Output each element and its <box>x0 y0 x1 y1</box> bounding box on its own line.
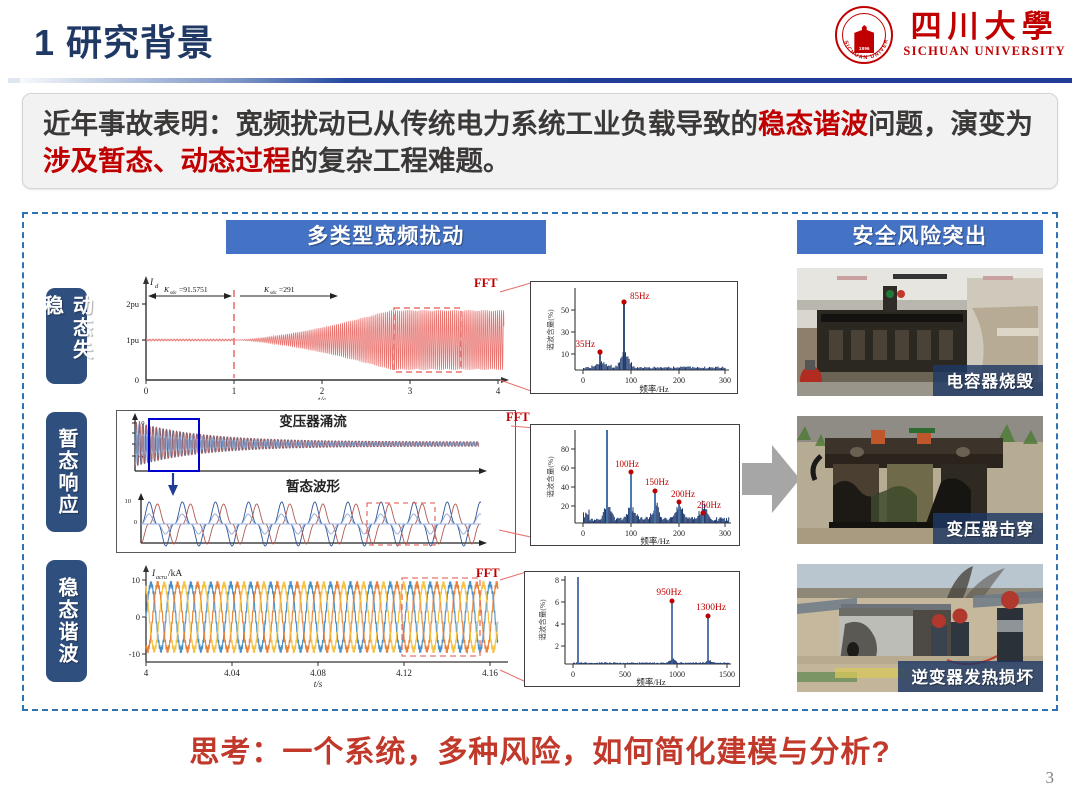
svg-text:1: 1 <box>232 386 237 396</box>
svg-text:-10: -10 <box>129 649 140 659</box>
row-badge-dynamic-instability: 动态失稳 <box>46 288 87 384</box>
seal-arc-text: SICHUAN UNIVERSITY <box>837 8 895 66</box>
statement-banner: 近年事故表明：宽频扰动已从传统电力系统工业负载导致的稳态谐波问题，演变为涉及暂态… <box>22 93 1058 189</box>
svg-text:=291: =291 <box>279 285 295 294</box>
svg-text:300: 300 <box>719 529 731 538</box>
svg-text:4: 4 <box>144 668 149 678</box>
svg-text:acru: acru <box>156 575 167 581</box>
svg-text:500: 500 <box>619 670 631 679</box>
chart-row1-fft: 10 30 50 0 100 200 300 频率/Hz 谐波含量(%) 35H… <box>530 281 738 394</box>
logo-chinese-name: 四川大學 <box>911 11 1059 44</box>
svg-text:4.08: 4.08 <box>310 668 326 678</box>
svg-text:1300Hz: 1300Hz <box>696 603 726 613</box>
svg-text:250Hz: 250Hz <box>697 500 721 510</box>
sichuan-university-seal-icon: 1896 SICHUAN UNIVERSITY <box>835 6 893 64</box>
chart-row1-timeseries: 2pu 1pu 0 0 1 2 3 4 t/s I d K sdc =91.57… <box>112 272 512 400</box>
svg-text:200: 200 <box>673 529 685 538</box>
header-rule <box>8 78 1072 83</box>
svg-text:4.16: 4.16 <box>482 668 498 678</box>
svg-text:=91.5751: =91.5751 <box>179 285 208 294</box>
svg-text:6: 6 <box>555 598 559 607</box>
svg-text:0: 0 <box>135 375 139 385</box>
svg-text:0: 0 <box>571 670 575 679</box>
svg-text:1pu: 1pu <box>126 335 140 345</box>
photo-caption-1: 电容器烧毁 <box>933 365 1044 396</box>
section-header-disturbances: 多类型宽频扰动 <box>226 220 546 254</box>
svg-text:35Hz: 35Hz <box>576 339 596 349</box>
svg-text:sdc: sdc <box>270 291 277 296</box>
svg-text:t/s: t/s <box>314 679 323 689</box>
photo-capacitor-burned: 电容器烧毁 <box>797 268 1043 396</box>
svg-text:30: 30 <box>561 328 569 337</box>
university-logo: 1896 SICHUAN UNIVERSITY 四川大學 SICHUAN UNI… <box>835 6 1066 64</box>
photo-caption-3: 逆变器发热损坏 <box>898 661 1044 692</box>
svg-text:0: 0 <box>144 386 149 396</box>
svg-text:频率/Hz: 频率/Hz <box>639 384 669 393</box>
svg-text:1000: 1000 <box>669 670 685 679</box>
svg-text:100: 100 <box>625 376 637 385</box>
svg-text:2pu: 2pu <box>126 299 140 309</box>
banner-text-3: 的复杂工程难题。 <box>291 145 511 176</box>
svg-text:/kA: /kA <box>168 569 182 579</box>
svg-text:1500: 1500 <box>719 670 735 679</box>
slide-root: 1 研究背景 1896 SICHUAN UNIVERSITY 四川大學 SICH… <box>0 0 1080 807</box>
page-number: 3 <box>1046 768 1055 788</box>
row-badge-transient-response: 暂态响应 <box>46 412 87 532</box>
svg-text:0: 0 <box>581 376 585 385</box>
svg-text:80: 80 <box>561 445 569 454</box>
banner-paragraph: 近年事故表明：宽频扰动已从传统电力系统工业负载导致的稳态谐波问题，演变为涉及暂态… <box>43 105 1039 179</box>
photo-inverter-overheat-damage: 逆变器发热损坏 <box>797 564 1043 692</box>
svg-text:0: 0 <box>134 519 137 526</box>
chart-row2-fft: 20 40 60 80 0 100 200 300 频率/Hz 谐波含量(%) … <box>530 424 740 546</box>
svg-text:200: 200 <box>673 376 685 385</box>
row2-top-title: 变压器涌流 <box>279 413 347 429</box>
svg-text:10: 10 <box>132 575 141 585</box>
svg-text:0: 0 <box>581 529 585 538</box>
svg-text:950Hz: 950Hz <box>656 588 681 598</box>
closing-question: 思考：一个系统，多种风险，如何简化建模与分析? <box>0 727 1080 771</box>
svg-text:sdc: sdc <box>170 291 177 296</box>
svg-text:d: d <box>155 283 159 290</box>
svg-text:K: K <box>263 285 270 294</box>
svg-text:谐波含量(%): 谐波含量(%) <box>545 309 555 351</box>
svg-text:100Hz: 100Hz <box>615 459 639 469</box>
svg-text:频率/Hz: 频率/Hz <box>640 536 670 545</box>
svg-text:K: K <box>163 285 170 294</box>
banner-highlight-2: 谐波 <box>813 108 868 139</box>
fft-label-row1: FFT <box>474 276 498 291</box>
svg-text:4.04: 4.04 <box>224 668 240 678</box>
chart-row2-timeseries: 10 5 0 -5 变压器涌流 暂态波形 10 0 <box>116 410 516 553</box>
row2-bottom-title: 暂态波形 <box>286 478 340 494</box>
svg-text:SICHUAN UNIVERSITY: SICHUAN UNIVERSITY <box>837 8 890 61</box>
svg-text:8: 8 <box>555 576 559 585</box>
photo-caption-2: 变压器击穿 <box>933 513 1044 544</box>
chart-row3-fft: 2 4 6 8 0 500 1000 1500 频率/Hz 谐波含量(%) 95… <box>524 571 740 687</box>
svg-text:100: 100 <box>625 529 637 538</box>
svg-text:I: I <box>149 278 154 288</box>
svg-text:85Hz: 85Hz <box>630 291 650 301</box>
svg-text:20: 20 <box>561 502 569 511</box>
logo-text: 四川大學 SICHUAN UNIVERSITY <box>903 11 1066 60</box>
svg-text:0: 0 <box>136 612 140 622</box>
svg-text:频率/Hz: 频率/Hz <box>636 677 666 686</box>
svg-text:10: 10 <box>125 498 132 505</box>
chart-row3-timeseries: 10 0 -10 I acru /kA 4 4.04 4.08 4.12 4.1… <box>104 562 520 690</box>
page-title: 1 研究背景 <box>34 14 214 66</box>
svg-text:40: 40 <box>561 483 569 492</box>
svg-text:10: 10 <box>561 350 569 359</box>
svg-text:t/s: t/s <box>318 395 327 400</box>
svg-text:300: 300 <box>719 376 731 385</box>
svg-text:谐波含量(%): 谐波含量(%) <box>545 456 555 498</box>
banner-text-2: 问题，演变为 <box>868 108 1033 139</box>
logo-english-name: SICHUAN UNIVERSITY <box>903 44 1066 59</box>
svg-text:4: 4 <box>555 620 559 629</box>
svg-text:3: 3 <box>408 386 413 396</box>
row-badge-steady-harmonics: 稳态谐波 <box>46 560 87 682</box>
banner-text-1: 近年事故表明：宽频扰动已从传统电力系统工业负载导致的 <box>43 108 758 139</box>
svg-text:60: 60 <box>561 464 569 473</box>
svg-text:200Hz: 200Hz <box>671 489 695 499</box>
header-rule-dot <box>8 78 20 83</box>
svg-text:4.12: 4.12 <box>396 668 412 678</box>
svg-text:2: 2 <box>555 642 559 651</box>
svg-text:50: 50 <box>561 306 569 315</box>
svg-text:谐波含量(%): 谐波含量(%) <box>537 599 547 641</box>
banner-highlight-1: 稳态 <box>758 108 813 139</box>
photo-transformer-breakdown: 变压器击穿 <box>797 416 1043 544</box>
fft-label-row3: FFT <box>476 566 500 581</box>
section-header-risks: 安全风险突出 <box>797 220 1043 254</box>
svg-text:150Hz: 150Hz <box>645 477 669 487</box>
banner-highlight-3: 涉及暂态、动态过程 <box>43 145 291 176</box>
flow-arrow-icon <box>742 443 800 515</box>
